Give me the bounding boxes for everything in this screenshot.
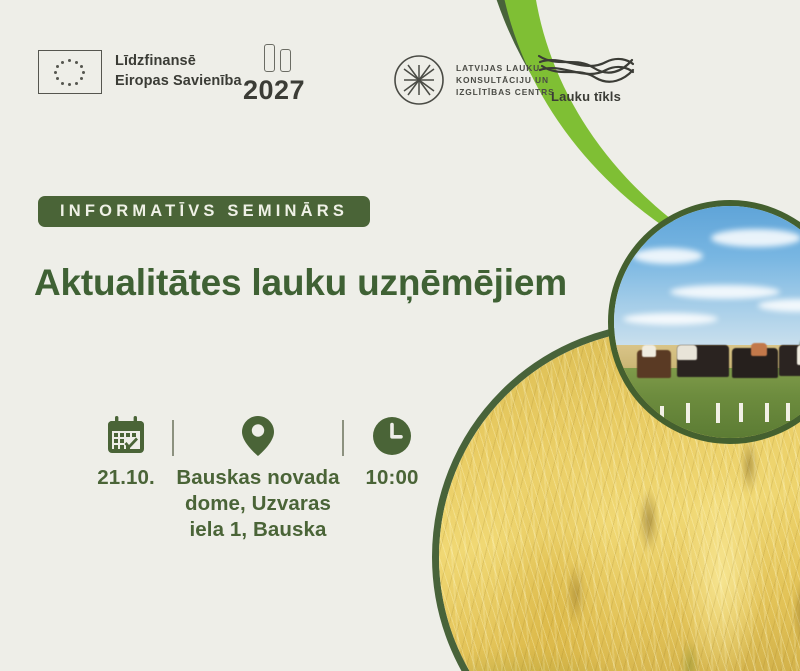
seminar-poster: Līdzfinansē Eiropas Savienība 2027 — [0, 0, 800, 671]
cow-leg — [646, 406, 650, 422]
logo-bar: Līdzfinansē Eiropas Savienība 2027 — [0, 0, 800, 140]
lauku-tikls-weave-icon — [536, 52, 636, 88]
event-time-value: 10:00 — [366, 465, 419, 491]
cow-leg — [686, 403, 690, 423]
cloud-shape — [623, 313, 718, 325]
eu-logo-line-1: Līdzfinansē — [115, 52, 242, 72]
event-time-block: 10:00 — [344, 414, 440, 491]
cow-leg — [786, 403, 790, 421]
page-title: Aktualitātes lauku uzņēmējiem — [34, 262, 567, 304]
event-date-value: 21.10. — [97, 465, 155, 491]
cow-leg — [716, 403, 720, 423]
lauku-tikls-logo: Lauku tīkls — [536, 52, 636, 104]
status-badge: INFORMATĪVS SEMINĀRS — [60, 202, 348, 221]
event-location-block: Bauskas novada dome, Uzvaras iela 1, Bau… — [174, 414, 342, 542]
seminar-type-badge: INFORMATĪVS SEMINĀRS — [38, 196, 370, 227]
eu-logo-text: Līdzfinansē Eiropas Savienība — [115, 52, 242, 91]
cow-shape — [642, 345, 656, 357]
map-pin-icon — [240, 414, 276, 458]
event-date-block: 21.10. — [80, 414, 172, 491]
cow-leg — [660, 406, 664, 421]
event-details-row: 21.10. Bauskas novada dome, Uzvaras iela… — [80, 414, 440, 542]
programme-year: 2027 — [243, 75, 305, 106]
cow-leg — [765, 403, 769, 422]
cloud-shape — [633, 248, 703, 264]
photo-sky — [614, 206, 800, 352]
programme-2027-logo: 2027 — [243, 44, 305, 106]
cows-in-pasture-photo — [608, 200, 800, 444]
cloud-shape — [670, 285, 780, 299]
eu-flag-icon — [38, 50, 102, 94]
calendar-icon — [105, 414, 147, 458]
cloud-shape — [711, 229, 800, 247]
lauku-tikls-label: Lauku tīkls — [536, 89, 636, 104]
eu-cofinancing-logo: Līdzfinansē Eiropas Savienība — [38, 50, 242, 94]
event-location-value: Bauskas novada dome, Uzvaras iela 1, Bau… — [174, 465, 342, 542]
cow-shape — [677, 345, 697, 360]
two-bars-icon — [249, 44, 305, 72]
clock-icon — [371, 414, 413, 458]
cow-leg — [739, 403, 743, 422]
llkc-logo: LATVIJAS LAUKU KONSULTĀCIJU UN IZGLĪTĪBA… — [392, 53, 555, 107]
llkc-weave-circle-icon — [392, 53, 446, 107]
eu-logo-line-2: Eiropas Savienība — [115, 72, 242, 92]
cow-shape — [751, 343, 767, 356]
photo-green-pasture — [614, 368, 800, 438]
